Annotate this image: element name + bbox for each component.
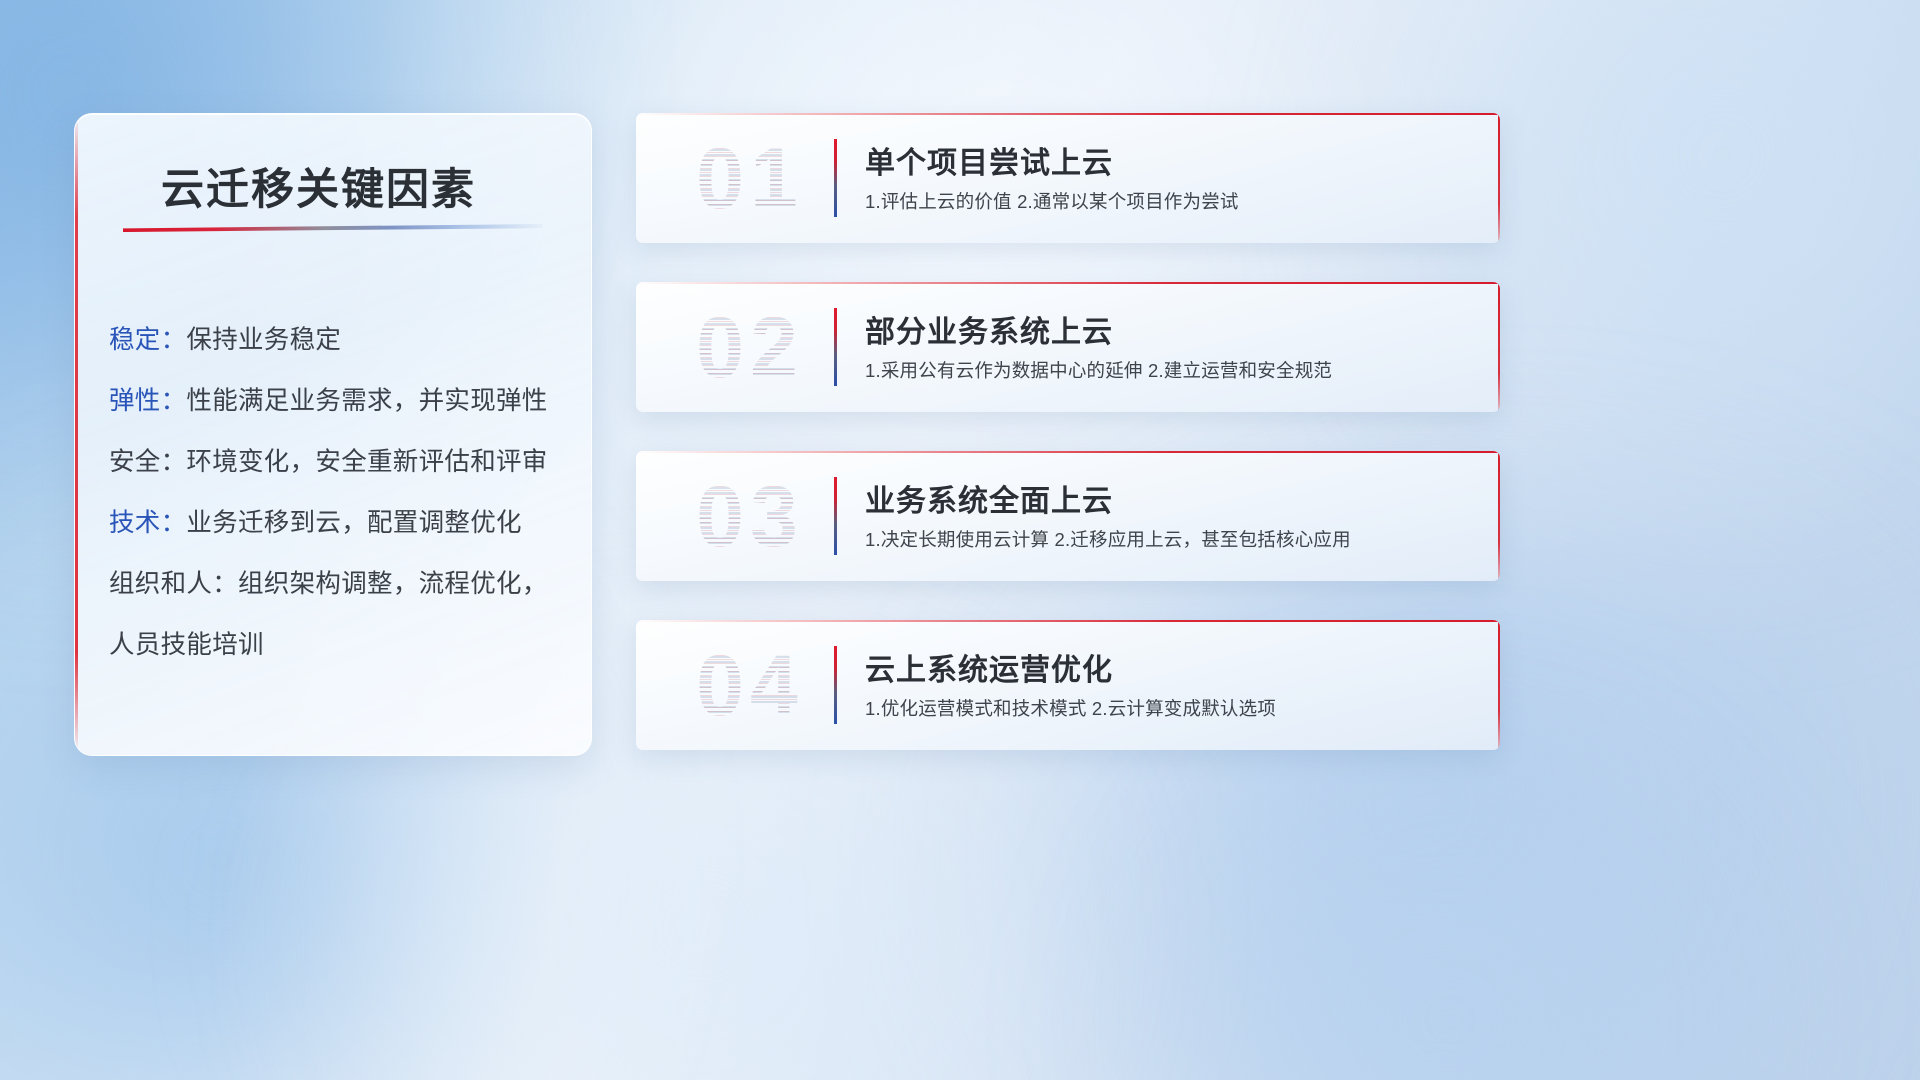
key-factor-item: 组织和人：组织架构调整，流程优化， [109, 554, 567, 615]
page-title: 云迁移关键因素 [161, 155, 476, 217]
accent-bar [834, 646, 837, 724]
key-factor-item: 人员技能培训 [109, 615, 567, 676]
stage-card-01[interactable]: 0101单个项目尝试上云1.评估上云的价值 2.通常以某个项目作为尝试 [636, 113, 1500, 243]
stage-heading: 业务系统全面上云 [865, 476, 1113, 520]
key-factor-label: 弹性： [109, 387, 186, 415]
key-factor-item: 技术：业务迁移到云，配置调整优化 [109, 493, 567, 554]
key-factor-text: 保持业务稳定 [186, 326, 341, 354]
key-factor-text: 性能满足业务需求，并实现弹性 [186, 387, 547, 415]
stage-card-04[interactable]: 0404云上系统运营优化1.优化运营模式和技术模式 2.云计算变成默认选项 [636, 620, 1500, 750]
key-factor-text: 组织架构调整，流程优化， [238, 570, 548, 598]
key-factors-list: 稳定：保持业务稳定弹性：性能满足业务需求，并实现弹性安全：环境变化，安全重新评估… [109, 310, 567, 676]
stage-card-03[interactable]: 0303业务系统全面上云1.决定长期使用云计算 2.迁移应用上云，甚至包括核心应… [636, 451, 1500, 581]
key-factors-panel: 云迁移关键因素 稳定：保持业务稳定弹性：性能满足业务需求，并实现弹性安全：环境变… [74, 113, 592, 756]
key-factor-label: 技术： [109, 509, 186, 537]
key-factor-item: 弹性：性能满足业务需求，并实现弹性 [109, 371, 567, 432]
title-underline-accent [123, 224, 543, 232]
stage-number-ghost-overlay: 01 [660, 129, 840, 229]
stage-heading: 部分业务系统上云 [865, 307, 1113, 351]
accent-bar [834, 308, 837, 386]
stage-card-list: 0101单个项目尝试上云1.评估上云的价值 2.通常以某个项目作为尝试0202部… [636, 113, 1500, 789]
stage-number-ghost-overlay: 03 [660, 467, 840, 567]
key-factor-text: 人员技能培训 [109, 631, 264, 659]
stage-description: 1.优化运营模式和技术模式 2.云计算变成默认选项 [865, 695, 1276, 721]
stage-description: 1.采用公有云作为数据中心的延伸 2.建立运营和安全规范 [865, 357, 1332, 383]
stage-heading: 单个项目尝试上云 [865, 138, 1113, 182]
key-factor-label: 组织和人： [109, 570, 238, 598]
key-factor-item: 安全：环境变化，安全重新评估和评审 [109, 432, 567, 493]
key-factor-label: 稳定： [109, 326, 186, 354]
key-factor-item: 稳定：保持业务稳定 [109, 310, 567, 371]
stage-number-ghost-overlay: 04 [660, 636, 840, 736]
stage-card-02[interactable]: 0202部分业务系统上云1.采用公有云作为数据中心的延伸 2.建立运营和安全规范 [636, 282, 1500, 412]
key-factor-text: 环境变化，安全重新评估和评审 [186, 448, 547, 476]
key-factor-text: 业务迁移到云，配置调整优化 [186, 509, 521, 537]
stage-number-ghost-overlay: 02 [660, 298, 840, 398]
accent-bar [834, 139, 837, 217]
key-factor-label: 安全： [109, 448, 186, 476]
stage-heading: 云上系统运营优化 [865, 645, 1113, 689]
accent-bar [834, 477, 837, 555]
stage-description: 1.决定长期使用云计算 2.迁移应用上云，甚至包括核心应用 [865, 526, 1351, 552]
stage-description: 1.评估上云的价值 2.通常以某个项目作为尝试 [865, 188, 1239, 214]
